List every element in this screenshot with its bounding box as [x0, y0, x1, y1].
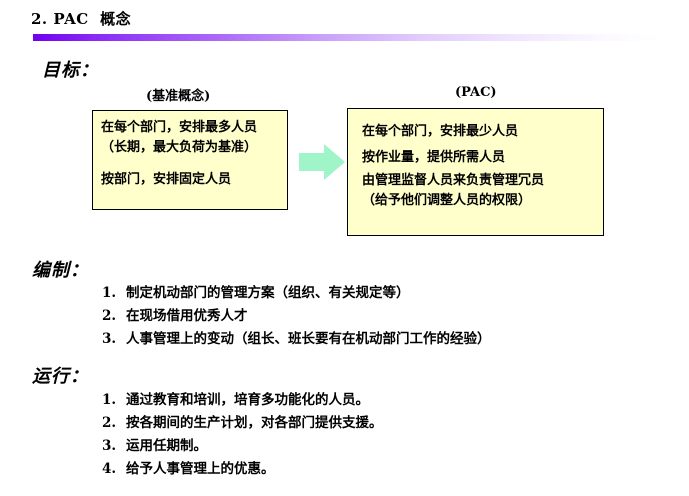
list-item-text: 给予人事管理上的优惠。 [126, 458, 275, 481]
concept-box-pac-line-4: （给予他们调整人员的权限） [362, 191, 603, 211]
list-item-number: 3. [102, 328, 126, 351]
list-item-text: 在现场借用优秀人才 [126, 305, 248, 328]
concept-box-baseline: 在每个部门，安排最多人员 （长期，最大负荷为基准） 按部门，安排固定人员 [92, 110, 288, 210]
section-heading-objective: 目标： [42, 56, 99, 82]
concept-box-baseline-line-2: （长期，最大负荷为基准） [101, 138, 287, 158]
section-heading-operation: 运行： [32, 362, 89, 388]
list-item: 3. 人事管理上的变动（组长、班长要有在机动部门工作的经验） [102, 328, 491, 351]
list-item-number: 1. [102, 282, 126, 305]
list-item: 1. 通过教育和培训，培育多功能化的人员。 [102, 389, 383, 412]
caption-pac: (PAC) [455, 85, 497, 100]
list-item-text: 运用任期制。 [126, 435, 207, 458]
page-title: 2. PAC 概念 [31, 8, 131, 29]
list-item: 2. 在现场借用优秀人才 [102, 305, 491, 328]
concept-box-pac: 在每个部门，安排最少人员 按作业量，提供所需人员 由管理监督人员来负责管理冗员 … [347, 108, 604, 236]
right-arrow-icon [299, 144, 345, 180]
concept-box-pac-line-3: 由管理监督人员来负责管理冗员 [362, 171, 603, 191]
list-item: 4. 给予人事管理上的优惠。 [102, 458, 383, 481]
list-item-text: 制定机动部门的管理方案（组织、有关规定等） [126, 282, 410, 305]
list-item-number: 4. [102, 458, 126, 481]
operation-list: 1. 通过教育和培训，培育多功能化的人员。 2. 按各期间的生产计划，对各部门提… [102, 389, 383, 481]
list-item-number: 3. [102, 435, 126, 458]
concept-box-baseline-line-1: 在每个部门，安排最多人员 [101, 118, 287, 138]
list-item-number: 2. [102, 412, 126, 435]
list-item: 1. 制定机动部门的管理方案（组织、有关规定等） [102, 282, 491, 305]
list-item: 2. 按各期间的生产计划，对各部门提供支援。 [102, 412, 383, 435]
list-item-number: 2. [102, 305, 126, 328]
list-item-number: 1. [102, 389, 126, 412]
list-item: 3. 运用任期制。 [102, 435, 383, 458]
title-underline-gradient [33, 34, 661, 41]
concept-box-pac-line-2: 按作业量，提供所需人员 [362, 145, 603, 171]
section-heading-staffing: 编制： [32, 256, 89, 282]
list-item-text: 按各期间的生产计划，对各部门提供支援。 [126, 412, 383, 435]
list-item-text: 人事管理上的变动（组长、班长要有在机动部门工作的经验） [126, 328, 491, 351]
staffing-list: 1. 制定机动部门的管理方案（组织、有关规定等） 2. 在现场借用优秀人才 3.… [102, 282, 491, 351]
concept-box-pac-line-1: 在每个部门，安排最少人员 [362, 119, 603, 145]
caption-baseline-concept: (基准概念) [146, 85, 210, 104]
concept-box-baseline-line-3: 按部门，安排固定人员 [101, 170, 287, 190]
list-item-text: 通过教育和培训，培育多功能化的人员。 [126, 389, 369, 412]
